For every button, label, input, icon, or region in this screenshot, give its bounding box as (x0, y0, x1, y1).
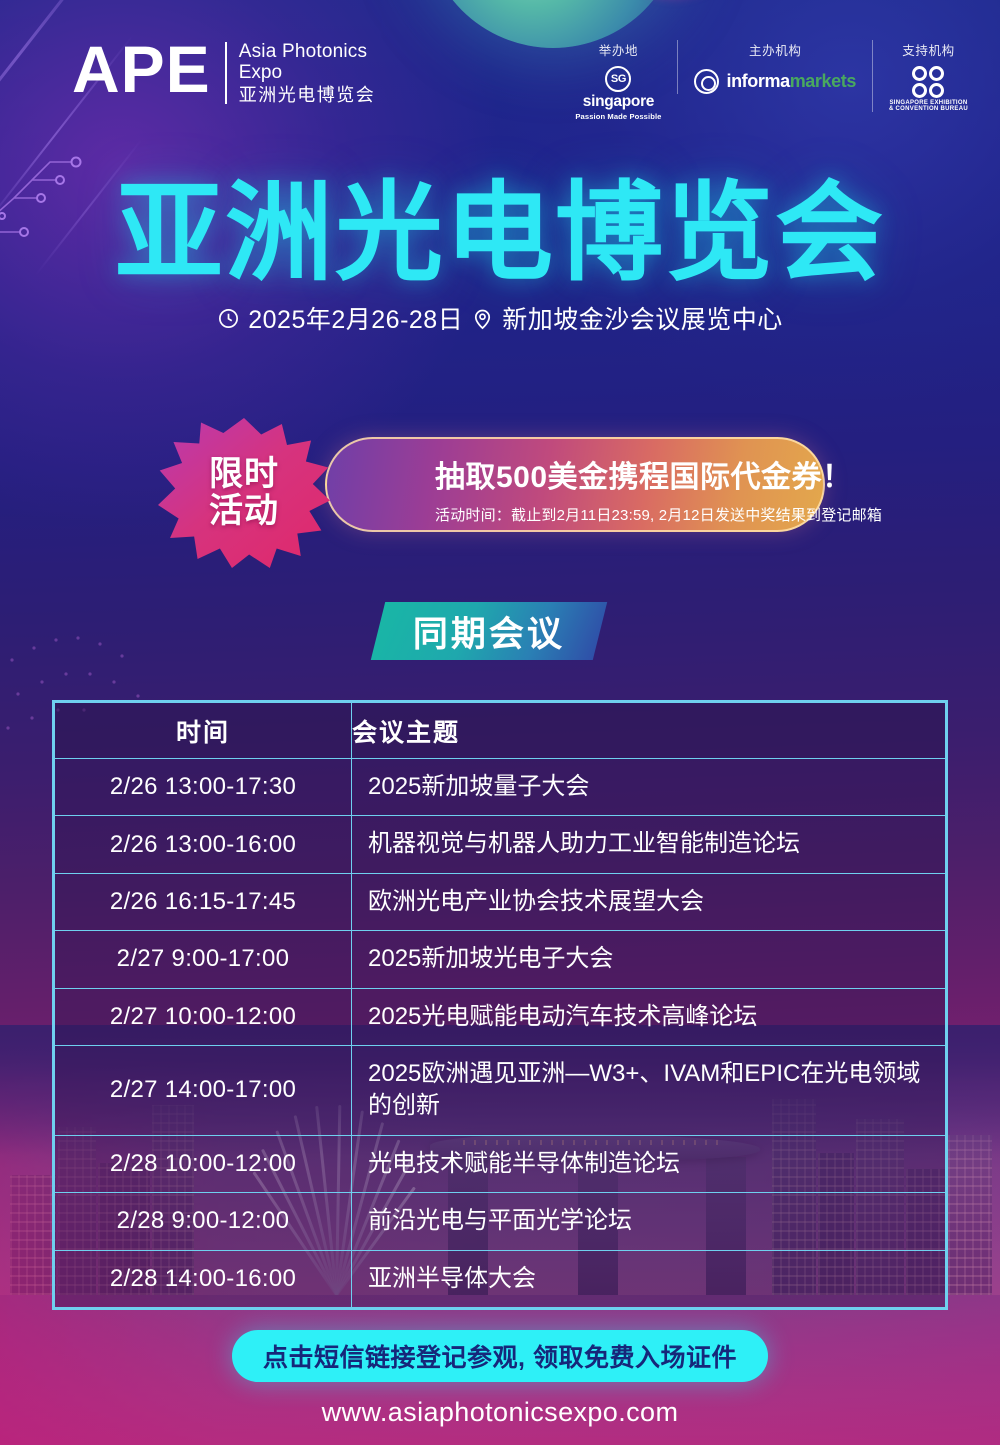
table-row: 2/27 10:00-12:002025光电赋能电动汽车技术高峰论坛 (55, 988, 946, 1045)
cell-topic: 2025新加坡光电子大会 (352, 931, 946, 988)
informa-markets-logo: informamarkets (694, 69, 855, 94)
hero-subtitle: 2025年2月26-28日 新加坡金沙会议展览中心 (0, 300, 1000, 336)
cell-time: 2/28 10:00-12:00 (55, 1135, 352, 1192)
sponsor-organizer-label: 主办机构 (749, 40, 801, 59)
hero-section: 亚洲光电博览会 2025年2月26-28日 新加坡金沙会议展览中心 (0, 176, 1000, 336)
cell-time: 2/26 13:00-17:30 (55, 759, 352, 816)
section-badge-concurrent-conferences: 同期会议 (371, 602, 607, 660)
cell-topic: 2025新加坡量子大会 (352, 759, 946, 816)
cell-time: 2/27 9:00-17:00 (55, 931, 352, 988)
sponsor-bar: 举办地 SG singapore Passion Made Possible 主… (559, 40, 984, 121)
page-title: 亚洲光电博览会 (0, 176, 1000, 290)
cell-time: 2/28 14:00-16:00 (55, 1250, 352, 1307)
column-header-time: 时间 (55, 703, 352, 759)
header: APE Asia Photonics Expo 亚洲光电博览会 举办地 SG s… (0, 0, 1000, 132)
table-row: 2/28 9:00-12:00前沿光电与平面光学论坛 (55, 1193, 946, 1250)
logo-subtitle-chinese: 亚洲光电博览会 (239, 84, 376, 106)
location-pin-icon (471, 307, 494, 330)
column-header-topic: 会议主题 (352, 703, 946, 759)
cell-topic: 2025欧洲遇见亚洲—W3+、IVAM和EPIC在光电领域的创新 (352, 1045, 946, 1135)
table-row: 2/27 14:00-17:002025欧洲遇见亚洲—W3+、IVAM和EPIC… (55, 1045, 946, 1135)
seb-logo: SINGAPORE EXHIBITION & CONVENTION BUREAU (889, 66, 968, 112)
poster-root: APE Asia Photonics Expo 亚洲光电博览会 举办地 SG s… (0, 0, 1000, 1445)
informa-ring-icon (694, 69, 719, 94)
singapore-wordmark: singapore (583, 93, 654, 111)
markets-word: markets (790, 71, 856, 91)
seb-rings-icon (912, 66, 944, 98)
promo-time-note: 活动时间：截止到2月11日23:59, 2月12日发送中奖结果到登记邮箱 (435, 504, 789, 525)
sponsor-venue-label: 举办地 (599, 40, 638, 59)
sponsor-organizer: 主办机构 informamarkets (677, 40, 871, 94)
cell-topic: 欧洲光电产业协会技术展望大会 (352, 873, 946, 930)
logo-divider (225, 42, 227, 104)
table-row: 2/26 16:15-17:45欧洲光电产业协会技术展望大会 (55, 873, 946, 930)
table-row: 2/28 10:00-12:00光电技术赋能半导体制造论坛 (55, 1135, 946, 1192)
ape-wordmark: APE (72, 40, 211, 99)
cell-topic: 2025光电赋能电动汽车技术高峰论坛 (352, 988, 946, 1045)
limited-time-badge: 限时 活动 (158, 418, 330, 568)
sponsor-supporter: 支持机构 SINGAPORE EXHIBITION & CONVENTION B… (872, 40, 984, 112)
cell-topic: 前沿光电与平面光学论坛 (352, 1193, 946, 1250)
cell-topic: 光电技术赋能半导体制造论坛 (352, 1135, 946, 1192)
promo-banner: 抽取500美金携程国际代金券！ 活动时间：截止到2月11日23:59, 2月12… (0, 410, 1000, 575)
singapore-logo: SG singapore Passion Made Possible (575, 66, 661, 121)
cell-time: 2/27 14:00-17:00 (55, 1045, 352, 1135)
logo-subtitle-line2: Expo (239, 62, 376, 83)
table-row: 2/27 9:00-17:002025新加坡光电子大会 (55, 931, 946, 988)
table-row: 2/26 13:00-17:302025新加坡量子大会 (55, 759, 946, 816)
informa-word: informa (726, 71, 789, 91)
burst-line2: 活动 (209, 493, 279, 530)
table-header-row: 时间 会议主题 (55, 703, 946, 759)
schedule-table: 时间 会议主题 2/26 13:00-17:302025新加坡量子大会2/26 … (52, 700, 948, 1310)
register-cta-button[interactable]: 点击短信链接登记参观, 领取免费入场证件 (232, 1330, 768, 1382)
hero-venue: 新加坡金沙会议展览中心 (502, 300, 783, 336)
logo-subtitle-line1: Asia Photonics (239, 41, 376, 62)
ape-logo: APE Asia Photonics Expo 亚洲光电博览会 (72, 40, 375, 106)
sponsor-venue: 举办地 SG singapore Passion Made Possible (559, 40, 677, 121)
singapore-tagline: Passion Made Possible (575, 112, 661, 121)
cell-time: 2/27 10:00-12:00 (55, 988, 352, 1045)
cell-time: 2/28 9:00-12:00 (55, 1193, 352, 1250)
section-badge-label: 同期会议 (413, 606, 565, 657)
cell-topic: 亚洲半导体大会 (352, 1250, 946, 1307)
website-url[interactable]: www.asiaphotonicsexpo.com (0, 1397, 1000, 1428)
register-cta-label: 点击短信链接登记参观, 领取免费入场证件 (263, 1338, 737, 1374)
cell-topic: 机器视觉与机器人助力工业智能制造论坛 (352, 816, 946, 873)
promo-pill: 抽取500美金携程国际代金券！ 活动时间：截止到2月11日23:59, 2月12… (325, 437, 825, 532)
cell-time: 2/26 16:15-17:45 (55, 873, 352, 930)
burst-line1: 限时 (209, 456, 279, 493)
sponsor-supporter-label: 支持机构 (902, 40, 954, 59)
clock-icon (217, 307, 240, 330)
promo-headline: 抽取500美金携程国际代金券！ (435, 452, 789, 496)
cell-time: 2/26 13:00-16:00 (55, 816, 352, 873)
sg-badge-icon: SG (605, 66, 631, 92)
seb-line2: & CONVENTION BUREAU (889, 106, 968, 112)
table-row: 2/26 13:00-16:00机器视觉与机器人助力工业智能制造论坛 (55, 816, 946, 873)
hero-date: 2025年2月26-28日 (248, 300, 463, 336)
table-row: 2/28 14:00-16:00亚洲半导体大会 (55, 1250, 946, 1307)
